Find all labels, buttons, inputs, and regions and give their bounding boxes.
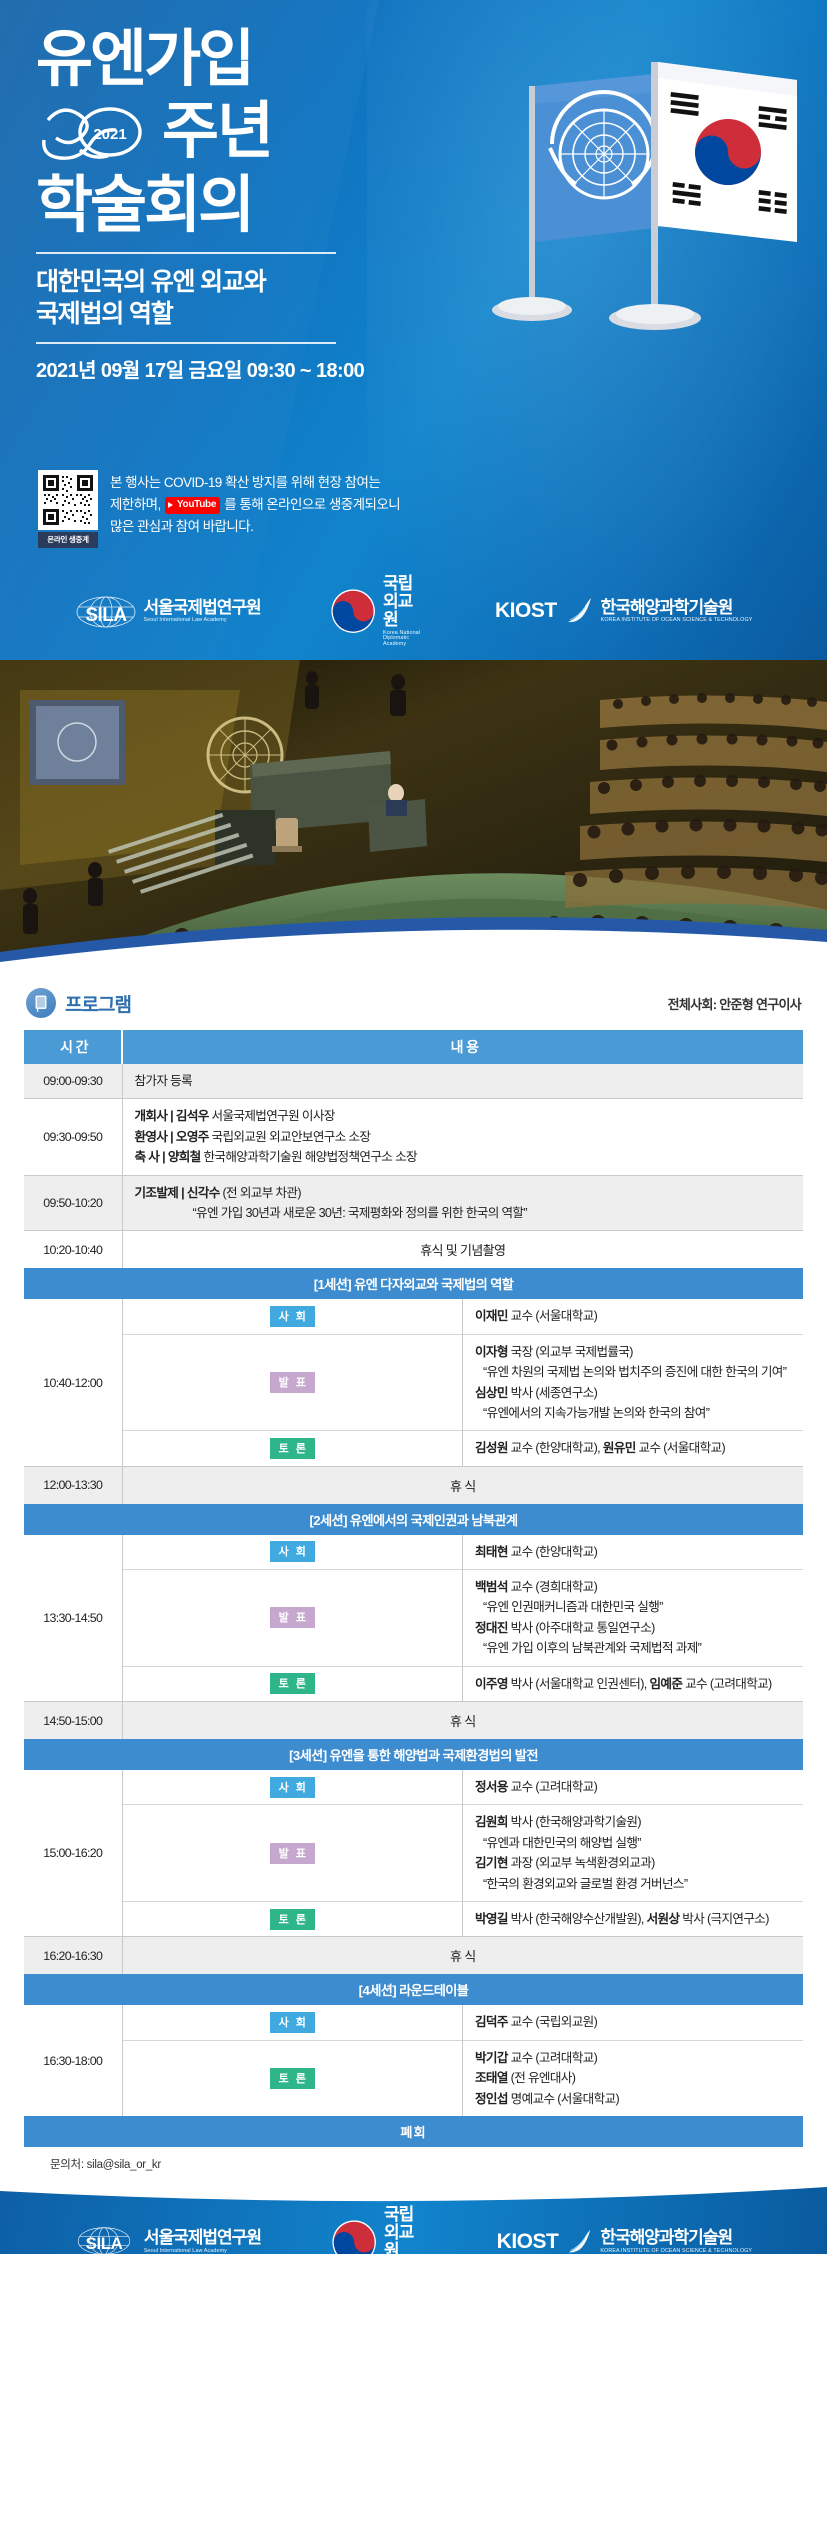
person-name: 백범석	[475, 1580, 508, 1594]
anniversary-year-label: 2021	[93, 126, 126, 143]
role-tag-cell: 토 론	[122, 1901, 463, 1936]
opening-label: 개회사 |	[135, 1109, 174, 1123]
person-affil: 교수 (한양대학교),	[508, 1441, 603, 1455]
kiost-leaf-icon	[565, 2228, 593, 2254]
presenter-line: 심상민 박사 (세종연구소)	[475, 1383, 793, 1403]
hero-sponsor-logos: SILA 서울국제법연구원 Seoul International Law Ac…	[0, 575, 827, 648]
footer-logo-knda-text: 국립외교원 Korea National Diplomatic Academy	[384, 2206, 427, 2254]
person-affil-2: 교수 (고려대학교)	[682, 1677, 771, 1691]
table-row: 15:00-16:20 사 회 정서용 교수 (고려대학교)	[24, 1770, 803, 1805]
presentation-title-line: “유엔과 대한민국의 해양법 실행”	[475, 1833, 793, 1853]
opening-name: 양희철	[168, 1150, 201, 1164]
row-time: 16:30-18:00	[24, 2005, 122, 2116]
footer-logo-kiost[interactable]: KIOST 한국해양과학기술원 KOREA INSTITUTE OF OCEAN…	[497, 2228, 752, 2254]
tag-chair: 사 회	[270, 1777, 315, 1798]
person-name-2: 서원상	[647, 1912, 680, 1926]
un-assembly-photo	[0, 660, 827, 970]
table-row: 토 론 이주영 박사 (서울대학교 인권센터), 임예준 교수 (고려대학교)	[24, 1666, 803, 1701]
opening-affil: 국립외교원 외교안보연구소 소장	[209, 1130, 371, 1144]
logo-knda[interactable]: 국립외교원 Korea National Diplomatic Academy	[330, 575, 426, 648]
column-header-content: 내 용	[122, 1030, 803, 1064]
row-content: 이재민 교수 (서울대학교)	[463, 1299, 804, 1334]
row-content: 휴 식	[122, 1937, 803, 1975]
tag-chair: 사 회	[270, 2012, 315, 2033]
person-name: 최태현	[475, 1545, 508, 1559]
session-band-label: [4세션] 라운드테이블	[24, 1974, 803, 2005]
person-name-2: 임예준	[649, 1677, 682, 1691]
person-name: 정서용	[475, 1780, 508, 1794]
opening-affil: 한국해양과학기술원 해양법정책연구소 소장	[201, 1150, 417, 1164]
person-affil: 과장 (외교부 녹색환경외교과)	[508, 1856, 655, 1870]
keynote-label: 기조발제 |	[135, 1186, 184, 1200]
logo-kiost-ko: 한국해양과학기술원	[601, 599, 753, 617]
opening-name: 오영주	[176, 1130, 209, 1144]
table-head: 시 간 내 용	[24, 1030, 803, 1064]
svg-text:SILA: SILA	[86, 2234, 123, 2253]
kiost-leaf-icon	[564, 596, 594, 626]
taegeuk-icon	[330, 588, 376, 634]
person-affil: 국장 (외교부 국제법률국)	[508, 1345, 633, 1359]
logo-kiost-word: KIOST	[495, 599, 557, 623]
row-content: 휴 식	[122, 1466, 803, 1504]
opening-line: 축 사 | 양희철 한국해양과학기술원 해양법정책연구소 소장	[135, 1147, 794, 1167]
role-tag-cell: 발 표	[122, 1334, 463, 1431]
table-row: 발 표 백범석 교수 (경희대학교) “유엔 인권매커니즘과 대한민국 실행” …	[24, 1570, 803, 1667]
presentation-title: “유엔 차원의 국제법 논의와 법치주의 증진에 대한 한국의 기여”	[475, 1362, 786, 1382]
person-affil: 교수 (고려대학교)	[508, 2051, 597, 2065]
youtube-label: YouTube	[177, 497, 216, 513]
sila-globe-icon: SILA	[75, 594, 137, 628]
session-band-label: [1세션] 유엔 다자외교와 국제법의 역할	[24, 1268, 803, 1299]
row-content: 이자형 국장 (외교부 국제법률국) “유엔 차원의 국제법 논의와 법치주의 …	[463, 1334, 804, 1431]
opening-label: 축 사 |	[135, 1150, 165, 1164]
discussant-line: 정인섭 명예교수 (서울대학교)	[475, 2089, 793, 2109]
flags-illustration	[437, 30, 817, 360]
person-affil: 명예교수 (서울대학교)	[508, 2092, 619, 2106]
photo-bottom-curve	[0, 912, 827, 970]
taegeuk-icon	[331, 2219, 377, 2254]
table-row: 12:00-13:30 휴 식	[24, 1466, 803, 1504]
logo-sila[interactable]: SILA 서울국제법연구원 Seoul International Law Ac…	[75, 594, 261, 628]
person-affil: 교수 (국립외교원)	[508, 2015, 597, 2029]
table-row: 발 표 김원희 박사 (한국해양과학기술원) “유엔과 대한민국의 해양법 실행…	[24, 1805, 803, 1902]
covid-notice-text: 본 행사는 COVID-19 확산 방지를 위해 현장 참여는 제한하며, Yo…	[110, 470, 400, 538]
qr-code-icon[interactable]	[38, 470, 98, 530]
footer-logo-knda-ko: 국립외교원	[384, 2206, 427, 2254]
event-datetime: 2021년 09월 17일 금요일 09:30 ~ 18:00	[36, 354, 456, 383]
row-time: 09:50-10:20	[24, 1175, 122, 1231]
person-name: 박기갑	[475, 2051, 508, 2065]
opening-name: 김석우	[176, 1109, 209, 1123]
table-header-row: 시 간 내 용	[24, 1030, 803, 1064]
row-time: 09:30-09:50	[24, 1099, 122, 1175]
person-name: 정인섭	[475, 2092, 508, 2106]
discussant-line: 조태열 (전 유엔대사)	[475, 2068, 793, 2088]
row-time: 09:00-09:30	[24, 1064, 122, 1099]
poster-hero: 유엔가입 2021 주년 학술회의	[0, 0, 827, 660]
row-time: 10:20-10:40	[24, 1231, 122, 1269]
presentation-title-line: “유엔에서의 지속가능개발 논의와 한국의 참여”	[475, 1403, 793, 1423]
person-affil: 박사 (한국해양수산개발원),	[508, 1912, 647, 1926]
poster-subtitle-line2: 국제법의 역할	[36, 298, 456, 330]
row-time: 15:00-16:20	[24, 1770, 122, 1937]
program-header-left: 프로그램	[26, 988, 131, 1018]
poster-title-line2-row: 2021 주년	[36, 93, 456, 171]
row-content: 박영길 박사 (한국해양수산개발원), 서원상 박사 (극지연구소)	[463, 1901, 804, 1936]
footer-logo-sila-en: Seoul International Law Academy	[144, 2249, 261, 2254]
row-content: 김원희 박사 (한국해양과학기술원) “유엔과 대한민국의 해양법 실행” 김기…	[463, 1805, 804, 1902]
table-row: 10:40-12:00 사 회 이재민 교수 (서울대학교)	[24, 1299, 803, 1334]
role-tag-cell: 사 회	[122, 1535, 463, 1570]
keynote-affil: (전 외교부 차관)	[220, 1186, 301, 1200]
logo-knda-ko: 국립외교원	[383, 575, 426, 629]
qr-caption: 온라인 생중계	[38, 532, 98, 548]
row-content: 정서용 교수 (고려대학교)	[463, 1770, 804, 1805]
table-row: 09:30-09:50 개회사 | 김석우 서울국제법연구원 이사장 환영사 |…	[24, 1099, 803, 1175]
person-affil-2: 교수 (서울대학교)	[636, 1441, 725, 1455]
footer-logo-sila-text: 서울국제법연구원 Seoul International Law Academy	[144, 2229, 261, 2254]
row-content: 휴 식	[122, 1702, 803, 1740]
footer-logo-kiost-ko: 한국해양과학기술원	[600, 2229, 752, 2247]
presentation-title-line: “한국의 환경외교와 글로벌 환경 거버넌스”	[475, 1874, 793, 1894]
role-tag-cell: 토 론	[122, 1431, 463, 1466]
footer-logo-kiost-text: 한국해양과학기술원 KOREA INSTITUTE OF OCEAN SCIEN…	[600, 2229, 752, 2254]
logo-kiost-text: 한국해양과학기술원 KOREA INSTITUTE OF OCEAN SCIEN…	[601, 599, 753, 625]
title-divider-top	[36, 252, 336, 254]
session-band: [1세션] 유엔 다자외교와 국제법의 역할	[24, 1268, 803, 1299]
title-divider-bottom	[36, 342, 336, 344]
table-row: 14:50-15:00 휴 식	[24, 1702, 803, 1740]
table-row: 발 표 이자형 국장 (외교부 국제법률국) “유엔 차원의 국제법 논의와 법…	[24, 1334, 803, 1431]
poster-title-line3: 학술회의	[36, 173, 456, 238]
person-name: 심상민	[475, 1386, 508, 1400]
discussant-line: 박기갑 교수 (고려대학교)	[475, 2048, 793, 2068]
presentation-title: “유엔 인권매커니즘과 대한민국 실행”	[475, 1597, 663, 1617]
table-row: 토 론 박영길 박사 (한국해양수산개발원), 서원상 박사 (극지연구소)	[24, 1901, 803, 1936]
opening-line: 개회사 | 김석우 서울국제법연구원 이사장	[135, 1106, 794, 1126]
row-content: 참가자 등록	[122, 1064, 803, 1099]
contact-info: 문의처: sila@sila_or_kr	[24, 2147, 803, 2172]
person-affil: 교수 (경희대학교)	[508, 1580, 597, 1594]
table-row: 토 론 김성원 교수 (한양대학교), 원유민 교수 (서울대학교)	[24, 1431, 803, 1466]
program-book-icon	[26, 988, 56, 1018]
tag-discuss: 토 론	[270, 1438, 315, 1459]
person-affil: 교수 (고려대학교)	[508, 1780, 597, 1794]
conference-poster: 유엔가입 2021 주년 학술회의	[0, 0, 827, 2545]
row-time: 16:20-16:30	[24, 1937, 122, 1975]
person-affil: 교수 (서울대학교)	[508, 1309, 597, 1323]
logo-sila-text: 서울국제법연구원 Seoul International Law Academy	[144, 599, 261, 625]
role-tag-cell: 토 론	[122, 2040, 463, 2116]
session-band: [3세션] 유엔을 통한 해양법과 국제환경법의 발전	[24, 1739, 803, 1770]
person-name: 김기현	[475, 1856, 508, 1870]
youtube-badge[interactable]: YouTube	[165, 497, 220, 514]
tag-present: 발 표	[270, 1843, 315, 1864]
role-tag-cell: 사 회	[122, 1770, 463, 1805]
keynote-line: 기조발제 | 신각수 (전 외교부 차관)	[135, 1183, 794, 1203]
table-row: 09:00-09:30 참가자 등록	[24, 1064, 803, 1099]
role-tag-cell: 발 표	[122, 1570, 463, 1667]
presentation-title: “유엔에서의 지속가능개발 논의와 한국의 참여”	[475, 1403, 709, 1423]
presentation-title-line: “유엔 가입 이후의 남북관계와 국제법적 과제”	[475, 1638, 793, 1658]
keynote-title-line: “유엔 가입 30년과 새로운 30년: 국제평화와 정의를 위한 한국의 역할…	[135, 1203, 794, 1223]
row-content: 백범석 교수 (경희대학교) “유엔 인권매커니즘과 대한민국 실행” 정대진 …	[463, 1570, 804, 1667]
logo-sila-en: Seoul International Law Academy	[144, 618, 261, 624]
person-name: 이자형	[475, 1345, 508, 1359]
notice-line-1: 본 행사는 COVID-19 확산 방지를 위해 현장 참여는	[110, 472, 400, 494]
notice-line-2: 제한하며, YouTube 를 통해 온라인으로 생중계되오니	[110, 494, 400, 516]
row-content: 최태현 교수 (한양대학교)	[463, 1535, 804, 1570]
person-affil: 박사 (한국해양과학기술원)	[508, 1815, 641, 1829]
row-content: 이주영 박사 (서울대학교 인권센터), 임예준 교수 (고려대학교)	[463, 1666, 804, 1701]
footer-logo-sila[interactable]: SILA 서울국제법연구원 Seoul International Law Ac…	[75, 2225, 261, 2254]
logo-knda-en: Korea National Diplomatic Academy	[383, 631, 426, 648]
opening-affil: 서울국제법연구원 이사장	[209, 1109, 335, 1123]
title-block: 유엔가입 2021 주년 학술회의	[36, 28, 456, 383]
presenter-line: 정대진 박사 (아주대학교 통일연구소)	[475, 1618, 793, 1638]
tag-chair: 사 회	[270, 1541, 315, 1562]
footer-logo-sila-ko: 서울국제법연구원	[144, 2229, 261, 2247]
session-band: [2세션] 유엔에서의 국제인권과 남북관계	[24, 1504, 803, 1535]
program-schedule-table: 시 간 내 용 09:00-09:30 참가자 등록 09:30-09:50 개…	[24, 1030, 803, 2147]
tag-discuss: 토 론	[270, 2068, 315, 2089]
qr-block: 온라인 생중계	[38, 470, 98, 548]
tag-present: 발 표	[270, 1607, 315, 1628]
person-name: 이주영	[475, 1677, 508, 1691]
footer-logo-kiost-en: KOREA INSTITUTE OF OCEAN SCIENCE & TECHN…	[600, 2249, 752, 2254]
table-row: 16:20-16:30 휴 식	[24, 1937, 803, 1975]
poster-title-line2: 주년	[162, 101, 272, 163]
role-tag-cell: 발 표	[122, 1805, 463, 1902]
presenter-line: 백범석 교수 (경희대학교)	[475, 1577, 793, 1597]
anniversary-30-mark: 2021	[36, 94, 154, 170]
table-row: 토 론 박기갑 교수 (고려대학교) 조태열 (전 유엔대사) 정인섭 명예교수…	[24, 2040, 803, 2116]
notice-line-2-after: 를 통해 온라인으로 생중계되오니	[224, 497, 400, 512]
person-name: 정대진	[475, 1621, 508, 1635]
person-affil: 박사 (서울대학교 인권센터),	[508, 1677, 650, 1691]
person-name: 김원희	[475, 1815, 508, 1829]
presentation-title-line: “유엔 차원의 국제법 논의와 법치주의 증진에 대한 한국의 기여”	[475, 1362, 793, 1382]
person-affil: 교수 (한양대학교)	[508, 1545, 597, 1559]
row-time: 10:40-12:00	[24, 1299, 122, 1466]
person-affil: (전 유엔대사)	[508, 2071, 575, 2085]
opening-line: 환영사 | 오영주 국립외교원 외교안보연구소 소장	[135, 1127, 794, 1147]
row-time: 14:50-15:00	[24, 1702, 122, 1740]
person-affil-2: 박사 (극지연구소)	[679, 1912, 768, 1926]
presentation-title-line: “유엔 인권매커니즘과 대한민국 실행”	[475, 1597, 793, 1617]
presentation-title: “한국의 환경외교와 글로벌 환경 거버넌스”	[475, 1874, 687, 1894]
notice-line-3: 많은 관심과 참여 바랍니다.	[110, 516, 400, 538]
logo-kiost[interactable]: KIOST 한국해양과학기술원 KOREA INSTITUTE OF OCEAN…	[495, 596, 752, 626]
poster-subtitle: 대한민국의 유엔 외교와 국제법의 역할	[36, 266, 456, 330]
role-tag-cell: 사 회	[122, 1299, 463, 1334]
person-name: 박영길	[475, 1912, 508, 1926]
session-band-label: [3세션] 유엔을 통한 해양법과 국제환경법의 발전	[24, 1739, 803, 1770]
opening-label: 환영사 |	[135, 1130, 174, 1144]
presentation-title: “유엔과 대한민국의 해양법 실행”	[475, 1833, 641, 1853]
row-time: 13:30-14:50	[24, 1535, 122, 1702]
footer-logo-knda[interactable]: 국립외교원 Korea National Diplomatic Academy	[331, 2206, 427, 2254]
tag-discuss: 토 론	[270, 1909, 315, 1930]
covid-notice-row: 온라인 생중계 본 행사는 COVID-19 확산 방지를 위해 현장 참여는 …	[38, 470, 400, 548]
tag-discuss: 토 론	[270, 1673, 315, 1694]
person-affil: 박사 (아주대학교 통일연구소)	[508, 1621, 655, 1635]
column-header-time: 시 간	[24, 1030, 122, 1064]
presenter-line: 이자형 국장 (외교부 국제법률국)	[475, 1342, 793, 1362]
tag-chair: 사 회	[270, 1306, 315, 1327]
keynote-name: 신각수	[187, 1186, 220, 1200]
session-band: [4세션] 라운드테이블	[24, 1974, 803, 2005]
program-title: 프로그램	[65, 990, 131, 1017]
poster-subtitle-line1: 대한민국의 유엔 외교와	[36, 266, 456, 298]
person-name: 조태열	[475, 2071, 508, 2085]
poster-footer: SILA 서울국제법연구원 Seoul International Law Ac…	[0, 2184, 827, 2254]
program-moderator: 전체사회: 안준형 연구이사	[668, 994, 801, 1013]
row-content: 기조발제 | 신각수 (전 외교부 차관) “유엔 가입 30년과 새로운 30…	[122, 1175, 803, 1231]
footer-logo-kiost-word: KIOST	[497, 2230, 559, 2254]
row-content: 휴식 및 기념촬영	[122, 1231, 803, 1269]
row-time: 12:00-13:30	[24, 1466, 122, 1504]
footer-sponsor-logos: SILA 서울국제법연구원 Seoul International Law Ac…	[0, 2206, 827, 2254]
person-name: 이재민	[475, 1309, 508, 1323]
session-band-label: [2세션] 유엔에서의 국제인권과 남북관계	[24, 1504, 803, 1535]
table-row: 10:20-10:40 휴식 및 기념촬영	[24, 1231, 803, 1269]
notice-line-2-before: 제한하며,	[110, 497, 161, 512]
role-tag-cell: 토 론	[122, 1666, 463, 1701]
table-body: 09:00-09:30 참가자 등록 09:30-09:50 개회사 | 김석우…	[24, 1064, 803, 2147]
program-header: 프로그램 전체사회: 안준형 연구이사	[24, 988, 803, 1018]
play-icon	[168, 502, 173, 508]
tag-present: 발 표	[270, 1372, 315, 1393]
closing-label: 폐회	[24, 2116, 803, 2147]
table-row: 16:30-18:00 사 회 김덕주 교수 (국립외교원)	[24, 2005, 803, 2040]
role-tag-cell: 사 회	[122, 2005, 463, 2040]
sila-globe-icon: SILA	[75, 2225, 137, 2254]
person-name-2: 원유민	[603, 1441, 636, 1455]
svg-text:SILA: SILA	[85, 605, 127, 626]
logo-knda-text: 국립외교원 Korea National Diplomatic Academy	[383, 575, 426, 648]
table-row: 13:30-14:50 사 회 최태현 교수 (한양대학교)	[24, 1535, 803, 1570]
keynote-title: “유엔 가입 30년과 새로운 30년: 국제평화와 정의를 위한 한국의 역할…	[135, 1203, 527, 1223]
row-content: 김덕주 교수 (국립외교원)	[463, 2005, 804, 2040]
closing-band: 폐회	[24, 2116, 803, 2147]
row-content: 개회사 | 김석우 서울국제법연구원 이사장 환영사 | 오영주 국립외교원 외…	[122, 1099, 803, 1175]
table-row: 09:50-10:20 기조발제 | 신각수 (전 외교부 차관) “유엔 가입…	[24, 1175, 803, 1231]
person-affil: 박사 (세종연구소)	[508, 1386, 597, 1400]
presentation-title: “유엔 가입 이후의 남북관계와 국제법적 과제”	[475, 1638, 701, 1658]
presenter-line: 김원희 박사 (한국해양과학기술원)	[475, 1812, 793, 1832]
person-name: 김덕주	[475, 2015, 508, 2029]
presenter-line: 김기현 과장 (외교부 녹색환경외교과)	[475, 1853, 793, 1873]
logo-sila-ko: 서울국제법연구원	[144, 599, 261, 617]
logo-kiost-en: KOREA INSTITUTE OF OCEAN SCIENCE & TECHN…	[601, 618, 753, 624]
poster-title-line1: 유엔가입	[36, 28, 456, 91]
program-section: 프로그램 전체사회: 안준형 연구이사 시 간 내 용 09:00-09:30 …	[0, 970, 827, 2172]
row-content: 박기갑 교수 (고려대학교) 조태열 (전 유엔대사) 정인섭 명예교수 (서울…	[463, 2040, 804, 2116]
person-name: 김성원	[475, 1441, 508, 1455]
row-content: 김성원 교수 (한양대학교), 원유민 교수 (서울대학교)	[463, 1431, 804, 1466]
